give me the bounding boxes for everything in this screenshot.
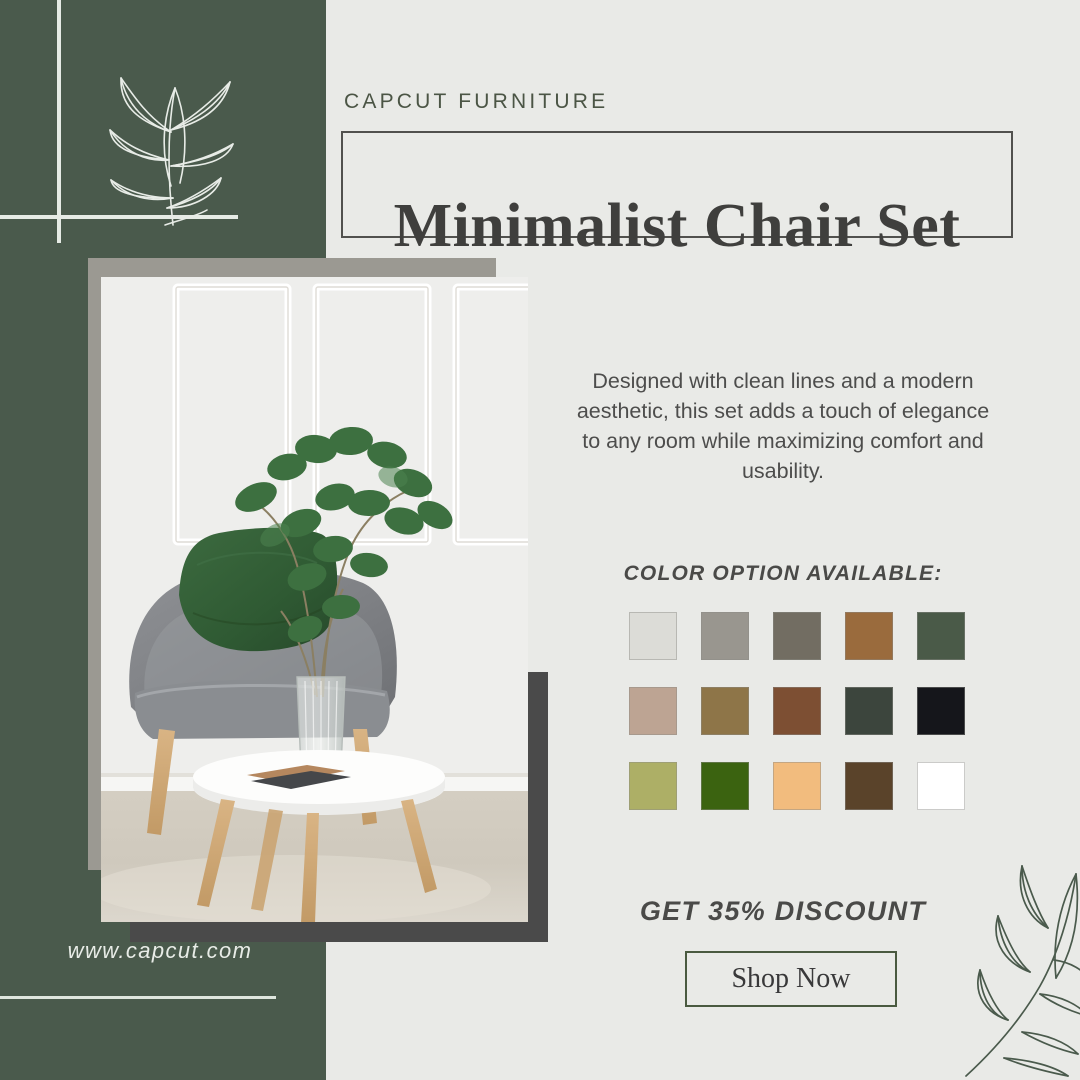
- color-swatch-light-gray[interactable]: [629, 612, 677, 660]
- living-room-illustration: [101, 277, 528, 922]
- brand-eyebrow: CAPCUT FURNITURE: [344, 90, 608, 114]
- color-swatch-forest-green[interactable]: [701, 762, 749, 810]
- product-photo: [101, 277, 528, 922]
- color-swatch-rust-brown[interactable]: [773, 687, 821, 735]
- product-description: Designed with clean lines and a modern a…: [573, 366, 993, 486]
- color-swatch-sage-olive[interactable]: [629, 762, 677, 810]
- leaf-sprig-icon: [960, 818, 1080, 1080]
- color-swatch-olive-brown[interactable]: [701, 687, 749, 735]
- color-swatch-beige-rose[interactable]: [629, 687, 677, 735]
- color-swatch-copper-tan[interactable]: [845, 612, 893, 660]
- color-swatch-white[interactable]: [917, 762, 965, 810]
- color-swatch-dark-slate-green[interactable]: [845, 687, 893, 735]
- color-swatch-forest-sage[interactable]: [917, 612, 965, 660]
- shop-now-button[interactable]: Shop Now: [685, 951, 897, 1007]
- page-title: Minimalist Chair Set: [341, 173, 1013, 280]
- color-swatch-dark-brown[interactable]: [845, 762, 893, 810]
- color-swatch-grid: [629, 612, 965, 810]
- poster-canvas: www.capcut.com: [0, 0, 1080, 1080]
- color-swatch-taupe-gray[interactable]: [773, 612, 821, 660]
- url-underline: [0, 996, 276, 999]
- olive-branch-icon: [55, 20, 265, 235]
- color-swatch-warm-gray[interactable]: [701, 612, 749, 660]
- discount-text: GET 35% DISCOUNT: [573, 896, 993, 927]
- color-options-heading: COLOR OPTION AVAILABLE:: [573, 562, 993, 586]
- color-swatch-apricot[interactable]: [773, 762, 821, 810]
- color-swatch-near-black[interactable]: [917, 687, 965, 735]
